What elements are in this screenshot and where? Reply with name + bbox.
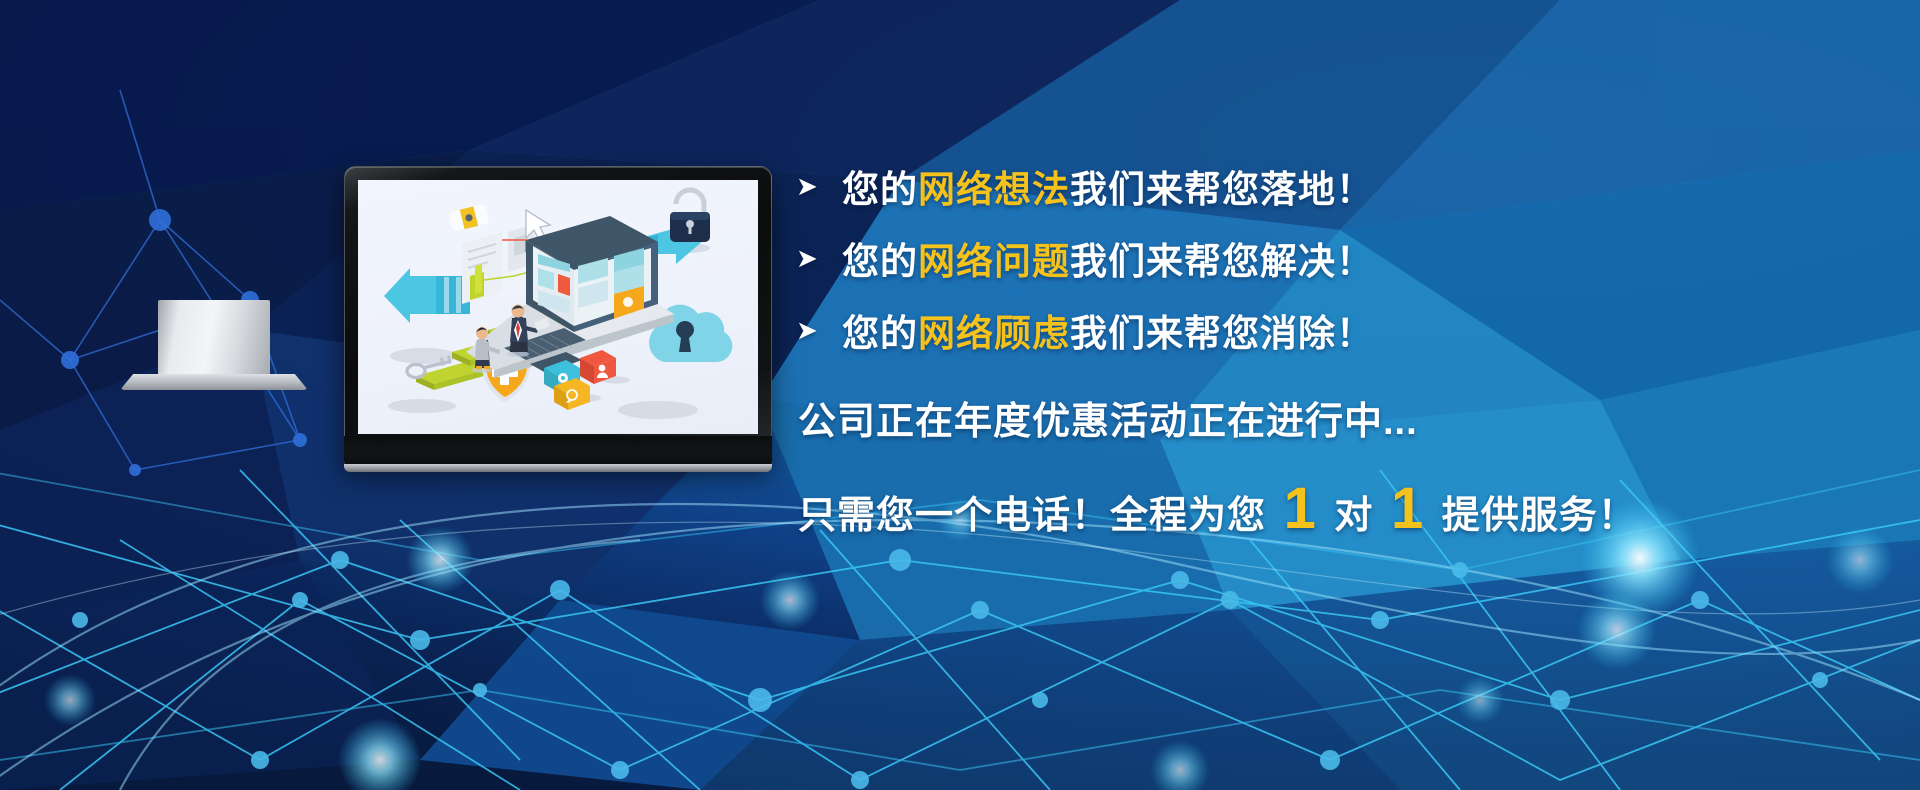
monitor-chin [344,436,772,466]
call-to-action-line: 只需您一个电话！全程为您 1 对 1 提供服务！ [798,483,1876,539]
bullet-2-highlight: 网络问题 [918,241,1070,282]
bullet-item-2: ➤ 您的网络问题我们来帮您解决！ [796,222,1876,294]
apple-display-monitor [344,166,772,466]
bullet-item-1: ➤ 您的网络想法我们来帮您落地！ [796,150,1876,222]
promo-banner: ➤ 您的网络想法我们来帮您落地！ ➤ 您的网络问题我们来帮您解决！ ➤ 您的网络… [0,0,1920,790]
bullet-text-1: 您的网络想法我们来帮您落地！ [842,159,1374,213]
cta-number-one-first: 1 [1278,483,1323,535]
monitor-foot-edge [344,464,772,472]
monitor-screen [358,180,758,434]
bullet-3-suffix: 我们来帮您消除！ [1070,313,1374,354]
monitor-stand-neck [158,300,270,378]
monitor-stand-base [120,374,308,390]
bullet-3-prefix: 您的 [842,313,918,354]
promo-line: 公司正在年度优惠活动正在进行中... [798,390,1876,445]
arrow-bullet-icon: ➤ [796,317,842,343]
bullet-1-highlight: 网络想法 [918,169,1070,210]
bullet-3-highlight: 网络顾虑 [918,313,1070,354]
bullet-1-prefix: 您的 [842,169,918,210]
cta-part-2: 对 [1323,484,1385,539]
marketing-copy-block: ➤ 您的网络想法我们来帮您落地！ ➤ 您的网络问题我们来帮您解决！ ➤ 您的网络… [796,150,1876,539]
cta-part-3: 提供服务！ [1430,484,1637,539]
cta-part-1: 只需您一个电话！全程为您 [798,484,1278,539]
bullet-text-3: 您的网络顾虑我们来帮您消除！ [842,303,1374,357]
bandage-icon [448,203,490,232]
bullet-item-3: ➤ 您的网络顾虑我们来帮您消除！ [796,294,1876,366]
bullet-2-suffix: 我们来帮您解决！ [1070,241,1374,282]
document-icon [462,232,502,304]
cta-number-one-second: 1 [1385,483,1430,535]
isometric-illustration [358,180,758,434]
padlock-icon [670,190,710,242]
arrow-bullet-icon: ➤ [796,173,842,199]
bullet-1-suffix: 我们来帮您落地！ [1070,169,1374,210]
bullet-text-2: 您的网络问题我们来帮您解决！ [842,231,1374,285]
arrow-bullet-icon: ➤ [796,245,842,271]
bullet-2-prefix: 您的 [842,241,918,282]
arrow-left-icon [384,268,470,323]
